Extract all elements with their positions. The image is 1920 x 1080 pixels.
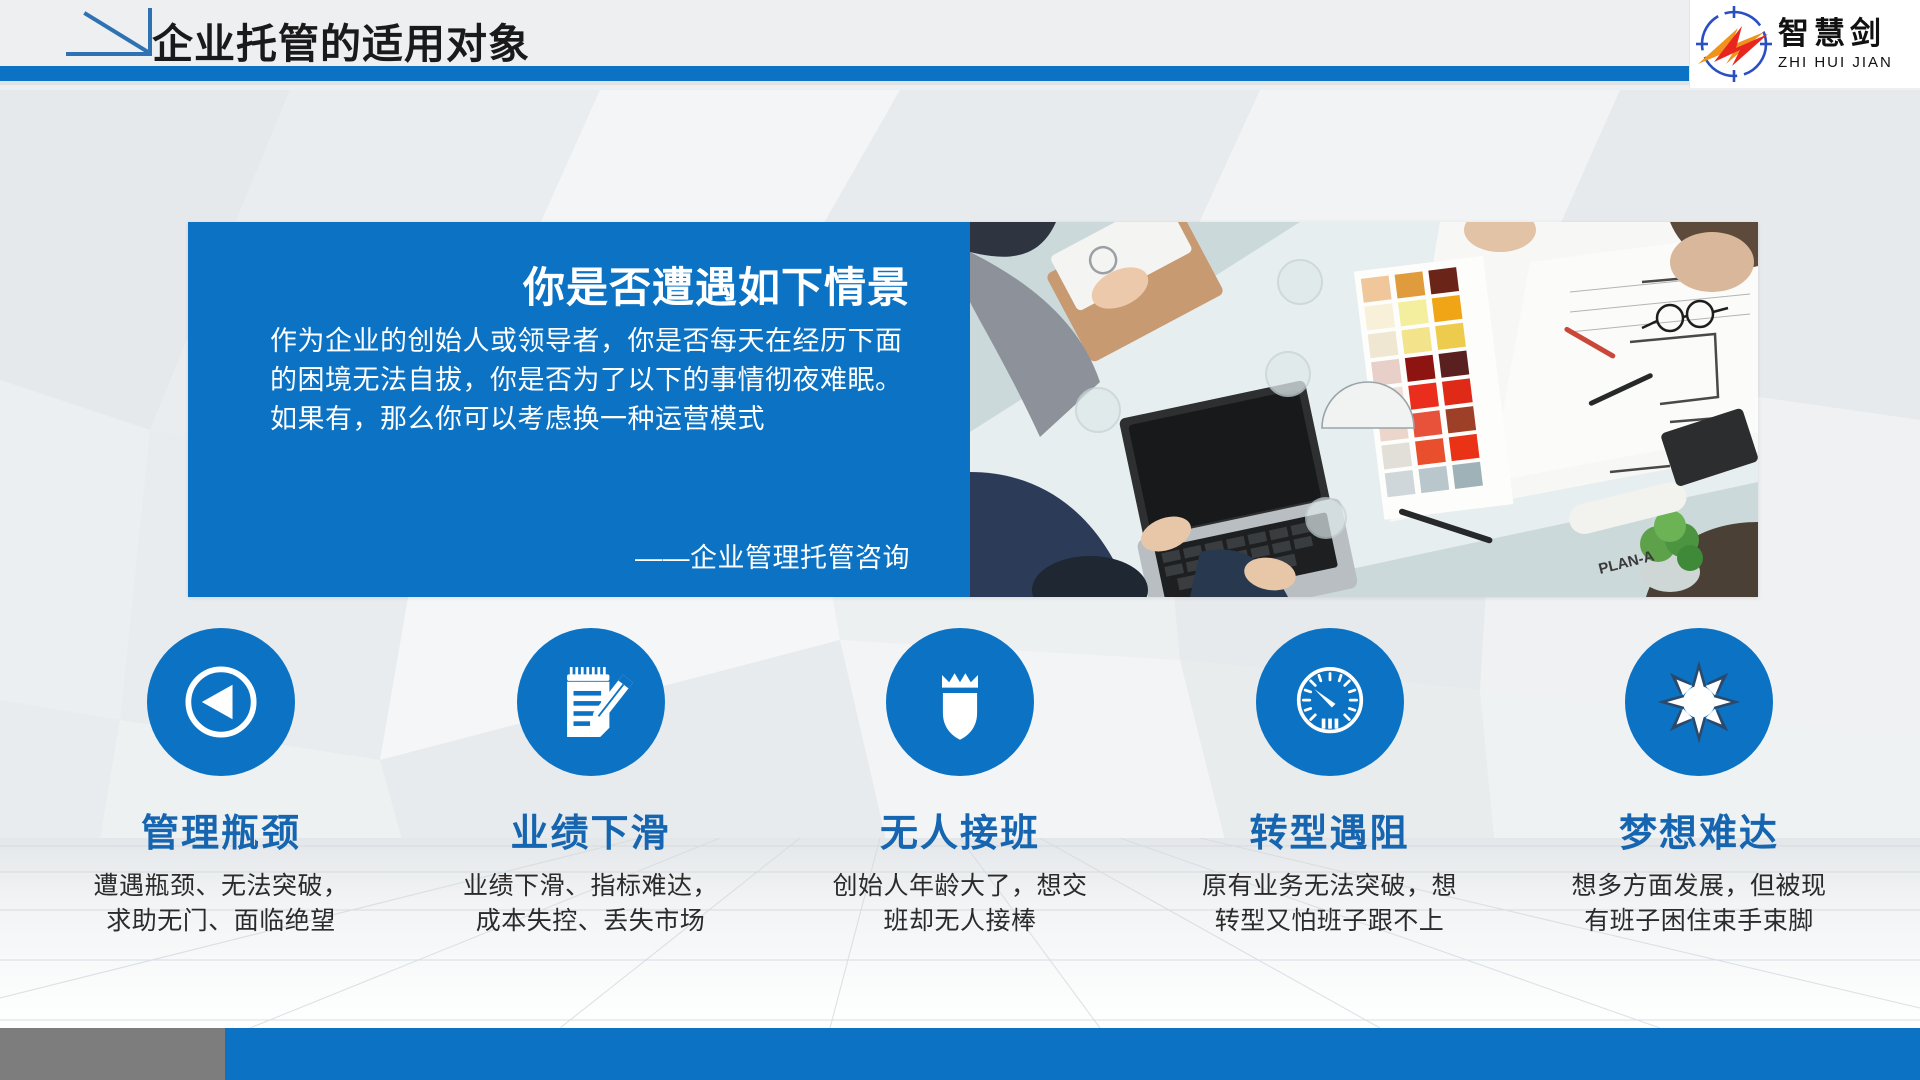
card-desc-line: 转型又怕班子跟不上 [1202, 904, 1457, 939]
card-desc-line: 有班子困住束手束脚 [1571, 904, 1826, 939]
card-desc-line: 创始人年龄大了，想交 [832, 869, 1087, 904]
card-desc-line: 遭遇瓶颈、无法突破， [93, 869, 348, 904]
crown-shield-icon [886, 628, 1034, 776]
card-transformation-blocked[interactable]: 转型遇阻 原有业务无法突破，想 转型又怕班子跟不上 [1165, 628, 1495, 938]
card-desc-line: 班却无人接棒 [832, 904, 1087, 939]
hero-signature: ——企业管理托管咨询 [635, 536, 910, 575]
footer-gray-segment [0, 1028, 225, 1080]
card-desc-line: 想多方面发展，但被现 [1571, 869, 1826, 904]
card-desc-line: 业绩下滑、指标难达， [463, 869, 718, 904]
card-title: 管理瓶颈 [141, 802, 301, 857]
card-description: 遭遇瓶颈、无法突破， 求助无门、面临绝望 [93, 869, 348, 938]
hero-text-panel: 你是否遭遇如下情景 作为企业的创始人或领导者，你是否每天在经历下面的困境无法自拔… [188, 222, 970, 597]
hero-photo: PLAN-A [970, 222, 1758, 597]
card-no-successor[interactable]: 无人接班 创始人年龄大了，想交 班却无人接棒 [795, 628, 1125, 938]
card-dream-unreachable[interactable]: 梦想难达 想多方面发展，但被现 有班子困住束手束脚 [1534, 628, 1864, 938]
problem-cards: 管理瓶颈 遭遇瓶颈、无法突破， 求助无门、面临绝望 [0, 628, 1920, 938]
speedometer-gauge-icon [1256, 628, 1404, 776]
play-back-circle-icon [147, 628, 295, 776]
card-title: 转型遇阻 [1249, 802, 1409, 857]
logo-name-cn: 智慧剑 [1778, 19, 1893, 50]
card-title: 无人接班 [880, 802, 1040, 857]
card-title: 梦想难达 [1619, 802, 1779, 857]
page-title: 企业托管的适用对象 [152, 10, 530, 70]
hero-section: 你是否遭遇如下情景 作为企业的创始人或领导者，你是否每天在经历下面的困境无法自拔… [188, 222, 1758, 597]
header-light-rule [0, 81, 1700, 85]
card-management-bottleneck[interactable]: 管理瓶颈 遭遇瓶颈、无法突破， 求助无门、面临绝望 [56, 628, 386, 938]
slide-canvas: 企业托管的适用对象 智慧剑 ZHI HUI JIAN 你是否遭遇如下情景 作为企… [0, 0, 1920, 1080]
sun-burst-icon [1625, 628, 1773, 776]
card-description: 创始人年龄大了，想交 班却无人接棒 [832, 869, 1087, 938]
lightning-bolt-in-circle-icon [1692, 2, 1776, 86]
card-description: 想多方面发展，但被现 有班子困住束手束脚 [1571, 869, 1826, 938]
card-description: 业绩下滑、指标难达， 成本失控、丢失市场 [463, 869, 718, 938]
hero-body-text: 作为企业的创始人或领导者，你是否每天在经历下面的困境无法自拔，你是否为了以下的事… [270, 322, 912, 439]
brand-logo: 智慧剑 ZHI HUI JIAN [1690, 0, 1920, 88]
card-desc-line: 求助无门、面临绝望 [93, 904, 348, 939]
card-desc-line: 成本失控、丢失市场 [463, 904, 718, 939]
hero-heading: 你是否遭遇如下情景 [523, 254, 910, 315]
slide-header: 企业托管的适用对象 [0, 0, 1920, 88]
card-description: 原有业务无法突破，想 转型又怕班子跟不上 [1202, 869, 1457, 938]
card-performance-decline[interactable]: 业绩下滑 业绩下滑、指标难达， 成本失控、丢失市场 [426, 628, 756, 938]
slide-footer-bar [0, 1028, 1920, 1080]
logo-name-en: ZHI HUI JIAN [1778, 55, 1893, 70]
footer-blue-segment [225, 1028, 1920, 1080]
card-desc-line: 原有业务无法突破，想 [1202, 869, 1457, 904]
card-title: 业绩下滑 [510, 802, 670, 857]
diagonal-down-right-arrow-icon [60, 4, 165, 62]
notepad-pencil-icon [517, 628, 665, 776]
header-blue-rule [0, 66, 1700, 81]
